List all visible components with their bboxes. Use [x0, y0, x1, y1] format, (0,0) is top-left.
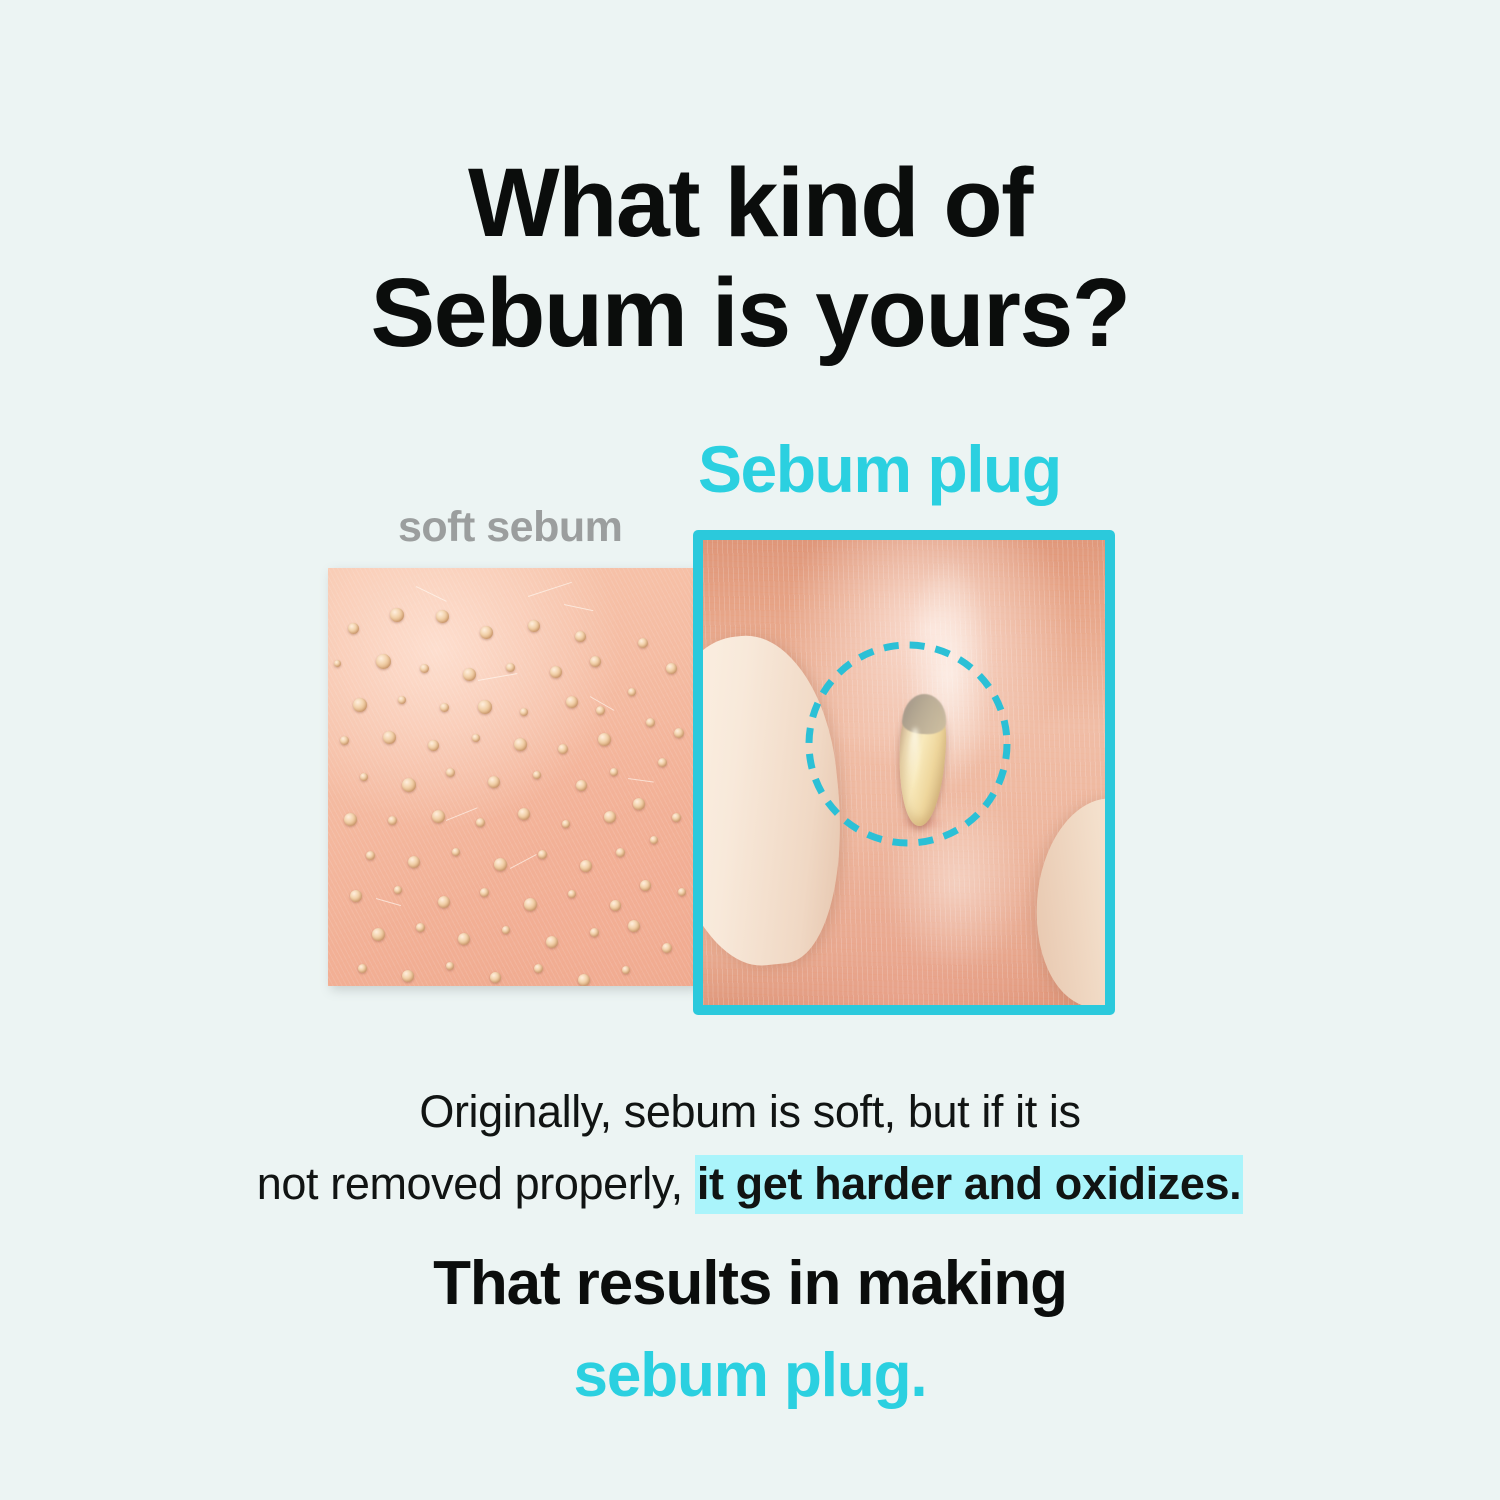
sebum-bump: [566, 696, 578, 708]
sebum-plug-photo: [693, 530, 1115, 1015]
closing-copy: That results in making sebum plug.: [0, 1238, 1500, 1422]
sebum-bump: [568, 890, 576, 898]
sebum-bump: [372, 928, 385, 941]
headline-line-1: What kind of: [0, 148, 1500, 258]
sebum-bump: [490, 972, 501, 983]
page-title: What kind of Sebum is yours?: [0, 148, 1500, 368]
sebum-bump: [383, 731, 396, 744]
sebum-bump: [452, 848, 460, 856]
sebum-bump: [476, 818, 485, 827]
sebum-bump: [633, 798, 645, 810]
sebum-bump: [578, 974, 590, 986]
sebum-bump: [575, 631, 586, 642]
sebum-bump: [528, 620, 540, 632]
sebum-plug-label: Sebum plug: [698, 432, 1061, 506]
sebum-bump: [590, 656, 601, 667]
sebum-bump: [360, 773, 368, 781]
sebum-bump: [358, 964, 367, 973]
sebum-bump: [506, 663, 515, 672]
sebum-bump: [390, 608, 404, 622]
closing-line-2: sebum plug.: [0, 1330, 1500, 1422]
sebum-bump: [533, 771, 541, 779]
soft-sebum-label: soft sebum: [398, 503, 622, 551]
dashed-highlight-circle: [804, 640, 1012, 848]
sebum-bump: [353, 698, 367, 712]
sebum-bump: [650, 836, 658, 844]
sebum-bump: [672, 813, 681, 822]
sebum-bump: [558, 744, 568, 754]
sebum-bump: [376, 654, 391, 669]
sebum-bump: [488, 776, 500, 788]
body-line-2-prefix: not removed properly,: [257, 1158, 695, 1209]
sebum-bump: [398, 696, 406, 704]
sebum-bump: [340, 736, 349, 745]
sebum-bump: [436, 610, 449, 623]
sebum-bump: [416, 923, 425, 932]
infographic-page: What kind of Sebum is yours? soft sebum …: [0, 0, 1500, 1500]
sebum-bump: [440, 703, 449, 712]
sebum-bump: [480, 626, 493, 639]
sebum-bump: [610, 768, 618, 776]
sebum-bump: [480, 888, 489, 897]
sebum-bump: [598, 733, 611, 746]
sebum-bump: [604, 811, 616, 823]
sebum-bump: [538, 850, 547, 859]
sebum-bump: [472, 734, 480, 742]
sebum-bump: [463, 668, 476, 681]
body-line-2-highlighted: it get harder and oxidizes.: [695, 1155, 1243, 1214]
sebum-bump: [534, 964, 543, 973]
headline-line-2: Sebum is yours?: [0, 258, 1500, 368]
sebum-bump: [518, 808, 530, 820]
sebum-bump: [514, 738, 527, 751]
sebum-bump: [678, 888, 686, 896]
sebum-bump: [666, 663, 677, 674]
sebum-bump: [616, 848, 625, 857]
sebum-bump: [662, 943, 672, 953]
sebum-bump: [622, 966, 630, 974]
sebum-bump: [640, 880, 651, 891]
sebum-bump: [366, 851, 375, 860]
sebum-bump: [596, 706, 605, 715]
sebum-bump: [520, 708, 528, 716]
sebum-bump: [438, 896, 450, 908]
sebum-bump: [334, 660, 341, 667]
sebum-bump: [350, 890, 362, 902]
sebum-bump: [446, 962, 454, 970]
body-line-2: not removed properly, it get harder and …: [0, 1148, 1500, 1220]
sebum-bump: [446, 768, 455, 777]
sebum-plug-photo-inner: [703, 540, 1105, 1005]
soft-skin-grain: [328, 568, 696, 986]
sebum-bump: [458, 933, 470, 945]
sebum-bump: [524, 898, 537, 911]
sebum-bump: [420, 664, 429, 673]
sebum-bump: [394, 886, 402, 894]
sebum-bump: [402, 778, 416, 792]
sebum-bump: [628, 920, 640, 932]
sebum-bump: [408, 856, 420, 868]
sebum-bump: [546, 936, 558, 948]
sebum-bump: [658, 758, 667, 767]
sebum-bump: [344, 813, 357, 826]
body-copy: Originally, sebum is soft, but if it is …: [0, 1076, 1500, 1220]
sebum-bump: [348, 623, 359, 634]
sebum-bump: [562, 820, 570, 828]
sebum-bump: [388, 816, 397, 825]
sebum-bump: [502, 926, 510, 934]
sebum-bump: [494, 858, 507, 871]
sebum-bump: [628, 688, 636, 696]
sebum-bump: [402, 970, 414, 982]
sebum-bump: [646, 718, 655, 727]
sebum-bump: [610, 900, 621, 911]
sebum-bump: [576, 780, 587, 791]
sebum-bump: [638, 638, 648, 648]
sebum-bump: [580, 860, 592, 872]
sebum-bump: [590, 928, 599, 937]
closing-line-1: That results in making: [0, 1238, 1500, 1330]
sebum-bump: [550, 666, 562, 678]
sebum-bump: [478, 700, 492, 714]
sebum-bump: [428, 740, 439, 751]
sebum-bump: [674, 728, 684, 738]
soft-sebum-photo: [328, 568, 696, 986]
body-line-1: Originally, sebum is soft, but if it is: [0, 1076, 1500, 1148]
sebum-bump: [432, 810, 445, 823]
